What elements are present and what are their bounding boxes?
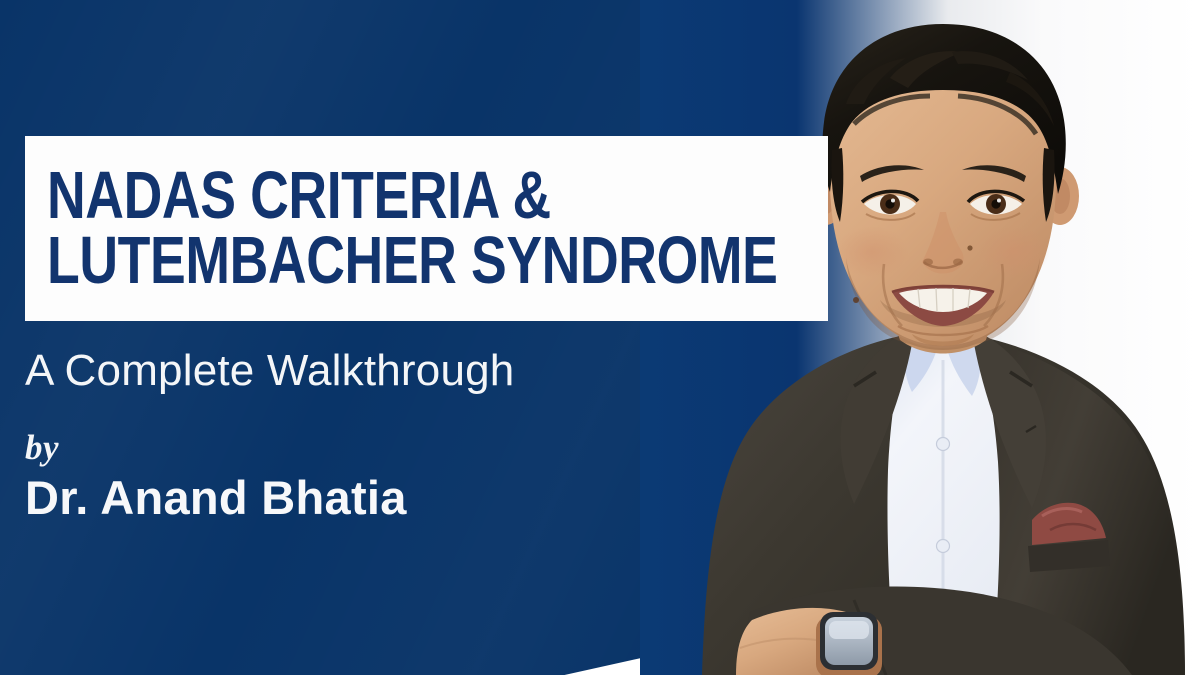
subtitle-byline-block: A Complete Walkthrough by Dr. Anand Bhat… xyxy=(25,348,514,523)
presenter-photo xyxy=(640,0,1200,675)
presenter-name: Dr. Anand Bhatia xyxy=(25,473,514,522)
title-line-1: NADAS CRITERIA & xyxy=(47,165,672,227)
byline-prefix: by xyxy=(25,430,514,465)
subtitle: A Complete Walkthrough xyxy=(25,348,514,394)
title-box: NADAS CRITERIA & LUTEMBACHER SYNDROME xyxy=(25,136,828,321)
video-thumbnail: NADAS CRITERIA & LUTEMBACHER SYNDROME A … xyxy=(0,0,1200,675)
title-line-2: LUTEMBACHER SYNDROME xyxy=(47,230,672,292)
